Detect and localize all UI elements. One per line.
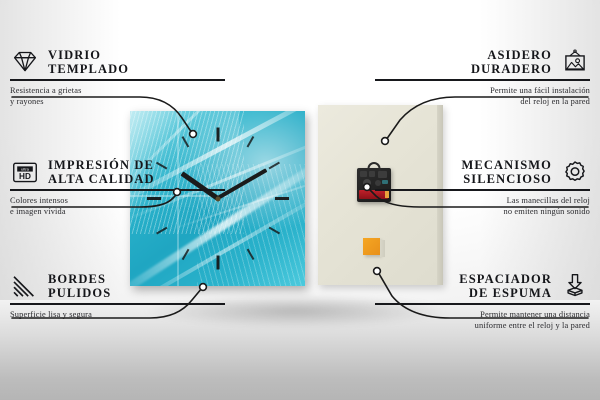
feature-bordes-pulidos: BORDES PULIDOS Superficie lisa y segura <box>10 272 225 320</box>
feature-divider <box>10 189 225 191</box>
down-arrow-pad-icon <box>560 273 590 299</box>
feature-description-line2: no emiten ningún sonido <box>504 207 591 216</box>
feature-title-line2: ALTA CALIDAD <box>48 172 155 186</box>
polished-edges-icon <box>10 273 40 299</box>
clock-tick <box>246 136 254 147</box>
svg-text:HD: HD <box>19 172 31 181</box>
feature-vidrio-templado: VIDRIO TEMPLADO Resistencia a grietas y … <box>10 48 225 107</box>
feature-description: Permite mantener una distancia uniforme … <box>375 309 590 331</box>
mechanism-dial <box>363 179 371 187</box>
feature-title-line2: DURADERO <box>471 62 552 76</box>
feature-description-line2: uniforme entre el reloj y la pared <box>475 321 590 330</box>
feature-title-block: BORDES PULIDOS <box>48 272 111 300</box>
feature-description-line1: Superficie lisa y segura <box>10 310 92 319</box>
feature-title-block: IMPRESIÓN DE ALTA CALIDAD <box>48 158 155 186</box>
hanging-picture-frame-icon <box>560 49 590 75</box>
feature-title-line1: ASIDERO <box>471 48 552 62</box>
feature-title-line1: IMPRESIÓN DE <box>48 158 155 172</box>
feature-title-line1: MECANISMO <box>462 158 552 172</box>
feature-description-line1: Las manecillas del reloj <box>507 196 590 205</box>
feature-title-block: MECANISMO SILENCIOSO <box>462 158 552 186</box>
feature-title-block: ESPACIADOR DE ESPUMA <box>459 272 552 300</box>
feature-title-line1: VIDRIO <box>48 48 129 62</box>
mechanism-part <box>360 171 367 177</box>
infographic-canvas: VIDRIO TEMPLADO Resistencia a grietas y … <box>0 0 600 400</box>
feature-description-line1: Permite mantener una distancia <box>480 310 590 319</box>
feature-divider <box>10 79 225 81</box>
feature-title-block: VIDRIO TEMPLADO <box>48 48 129 76</box>
feature-espaciador-de-espuma: ESPACIADOR DE ESPUMA Permite mantener un… <box>375 272 590 331</box>
feature-description-line2: y rayones <box>10 97 44 106</box>
feature-description: Las manecillas del reloj no emiten ningú… <box>375 195 590 217</box>
foam-spacer <box>363 238 380 255</box>
feature-asidero-duradero: ASIDERO DURADERO Permite una fácil insta… <box>375 48 590 107</box>
feature-title-line2: PULIDOS <box>48 286 111 300</box>
feature-divider <box>375 189 590 191</box>
feature-title-line2: TEMPLADO <box>48 62 129 76</box>
diamond-icon <box>10 49 40 75</box>
feature-title-block: ASIDERO DURADERO <box>471 48 552 76</box>
feature-mecanismo-silencioso: MECANISMO SILENCIOSO Las manecillas del … <box>375 158 590 217</box>
feature-title-line2: SILENCIOSO <box>462 172 552 186</box>
feature-title-line1: BORDES <box>48 272 111 286</box>
feature-description: Superficie lisa y segura <box>10 309 225 320</box>
feature-description-line1: Resistencia a grietas <box>10 86 82 95</box>
svg-text:ultra: ultra <box>21 167 30 172</box>
feature-description: Permite una fácil instalación del reloj … <box>375 85 590 107</box>
feature-impresion-alta-calidad: ultra HD IMPRESIÓN DE ALTA CALIDAD Color… <box>10 158 225 217</box>
feature-title-line1: ESPACIADOR <box>459 272 552 286</box>
feature-title-line2: DE ESPUMA <box>459 286 552 300</box>
feature-description: Colores intensos e imagen vívida <box>10 195 225 217</box>
gear-icon <box>560 159 590 185</box>
feature-divider <box>10 303 225 305</box>
clock-tick <box>216 128 219 142</box>
feature-description-line1: Colores intensos <box>10 196 68 205</box>
clock-tick <box>216 256 219 270</box>
feature-description: Resistencia a grietas y rayones <box>10 85 225 107</box>
feature-description-line2: del reloj en la pared <box>520 97 590 106</box>
feature-divider <box>375 79 590 81</box>
feature-divider <box>375 303 590 305</box>
feature-description-line2: e imagen vívida <box>10 207 66 216</box>
ultra-hd-badge-icon: ultra HD <box>10 159 40 185</box>
clock-tick <box>275 197 289 200</box>
feature-description-line1: Permite una fácil instalación <box>490 86 590 95</box>
